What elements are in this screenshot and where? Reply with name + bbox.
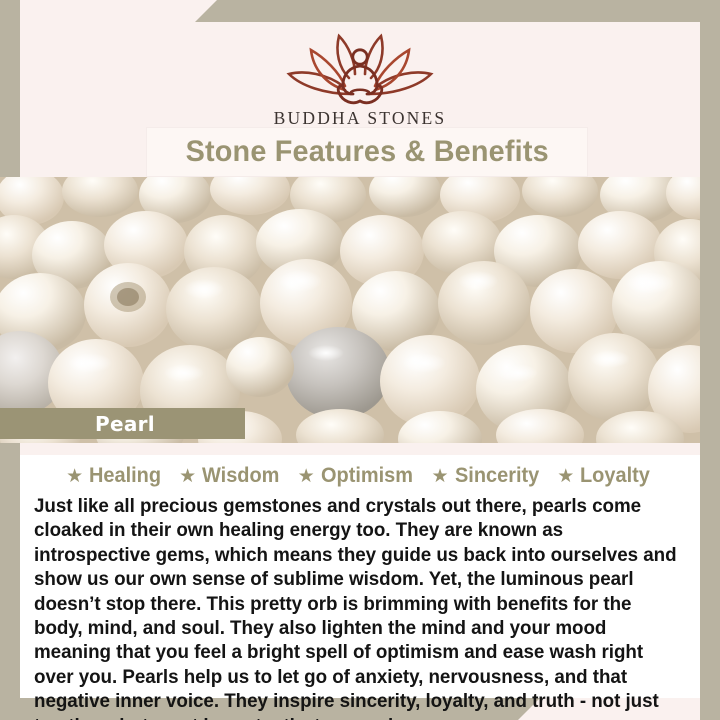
benefit-loyalty: ★ Loyalty: [557, 464, 654, 488]
star-icon: ★: [557, 467, 574, 486]
benefit-wisdom: ★ Wisdom: [179, 464, 284, 488]
brand-wordmark: BUDDHA STONES: [20, 108, 700, 129]
benefit-label: Healing: [89, 464, 161, 488]
lotus-meditation-icon: [20, 30, 700, 106]
star-icon: ★: [179, 467, 196, 486]
brand-logo-block: BUDDHA STONES: [20, 22, 700, 129]
page-title: Stone Features & Benefits: [185, 135, 548, 169]
benefit-label: Optimism: [321, 464, 413, 488]
benefit-label: Sincerity: [455, 464, 539, 488]
benefit-sincerity: ★ Sincerity: [432, 464, 544, 488]
star-icon: ★: [298, 467, 315, 486]
star-icon: ★: [432, 467, 449, 486]
content-card: ★ Healing ★ Wisdom ★ Optimism ★ Sincerit…: [20, 455, 700, 698]
page-surface: BUDDHA STONES Stone Features & Benefits: [20, 22, 700, 698]
stone-description-text: Just like all precious gemstones and cry…: [34, 495, 678, 720]
decorative-band-top: [195, 0, 720, 22]
stone-name-bar: Pearl: [0, 408, 245, 439]
decorative-band-right: [700, 0, 720, 720]
benefits-row: ★ Healing ★ Wisdom ★ Optimism ★ Sincerit…: [28, 455, 692, 493]
benefit-label: Loyalty: [580, 464, 650, 488]
benefit-label: Wisdom: [202, 464, 279, 488]
star-icon: ★: [66, 467, 83, 486]
benefit-healing: ★ Healing: [66, 464, 165, 488]
stone-name-label: Pearl: [95, 412, 155, 436]
infographic-page: BUDDHA STONES Stone Features & Benefits: [0, 0, 720, 720]
benefit-optimism: ★ Optimism: [298, 464, 418, 488]
title-banner: Stone Features & Benefits: [147, 128, 587, 176]
pearl-photo: [0, 177, 700, 443]
